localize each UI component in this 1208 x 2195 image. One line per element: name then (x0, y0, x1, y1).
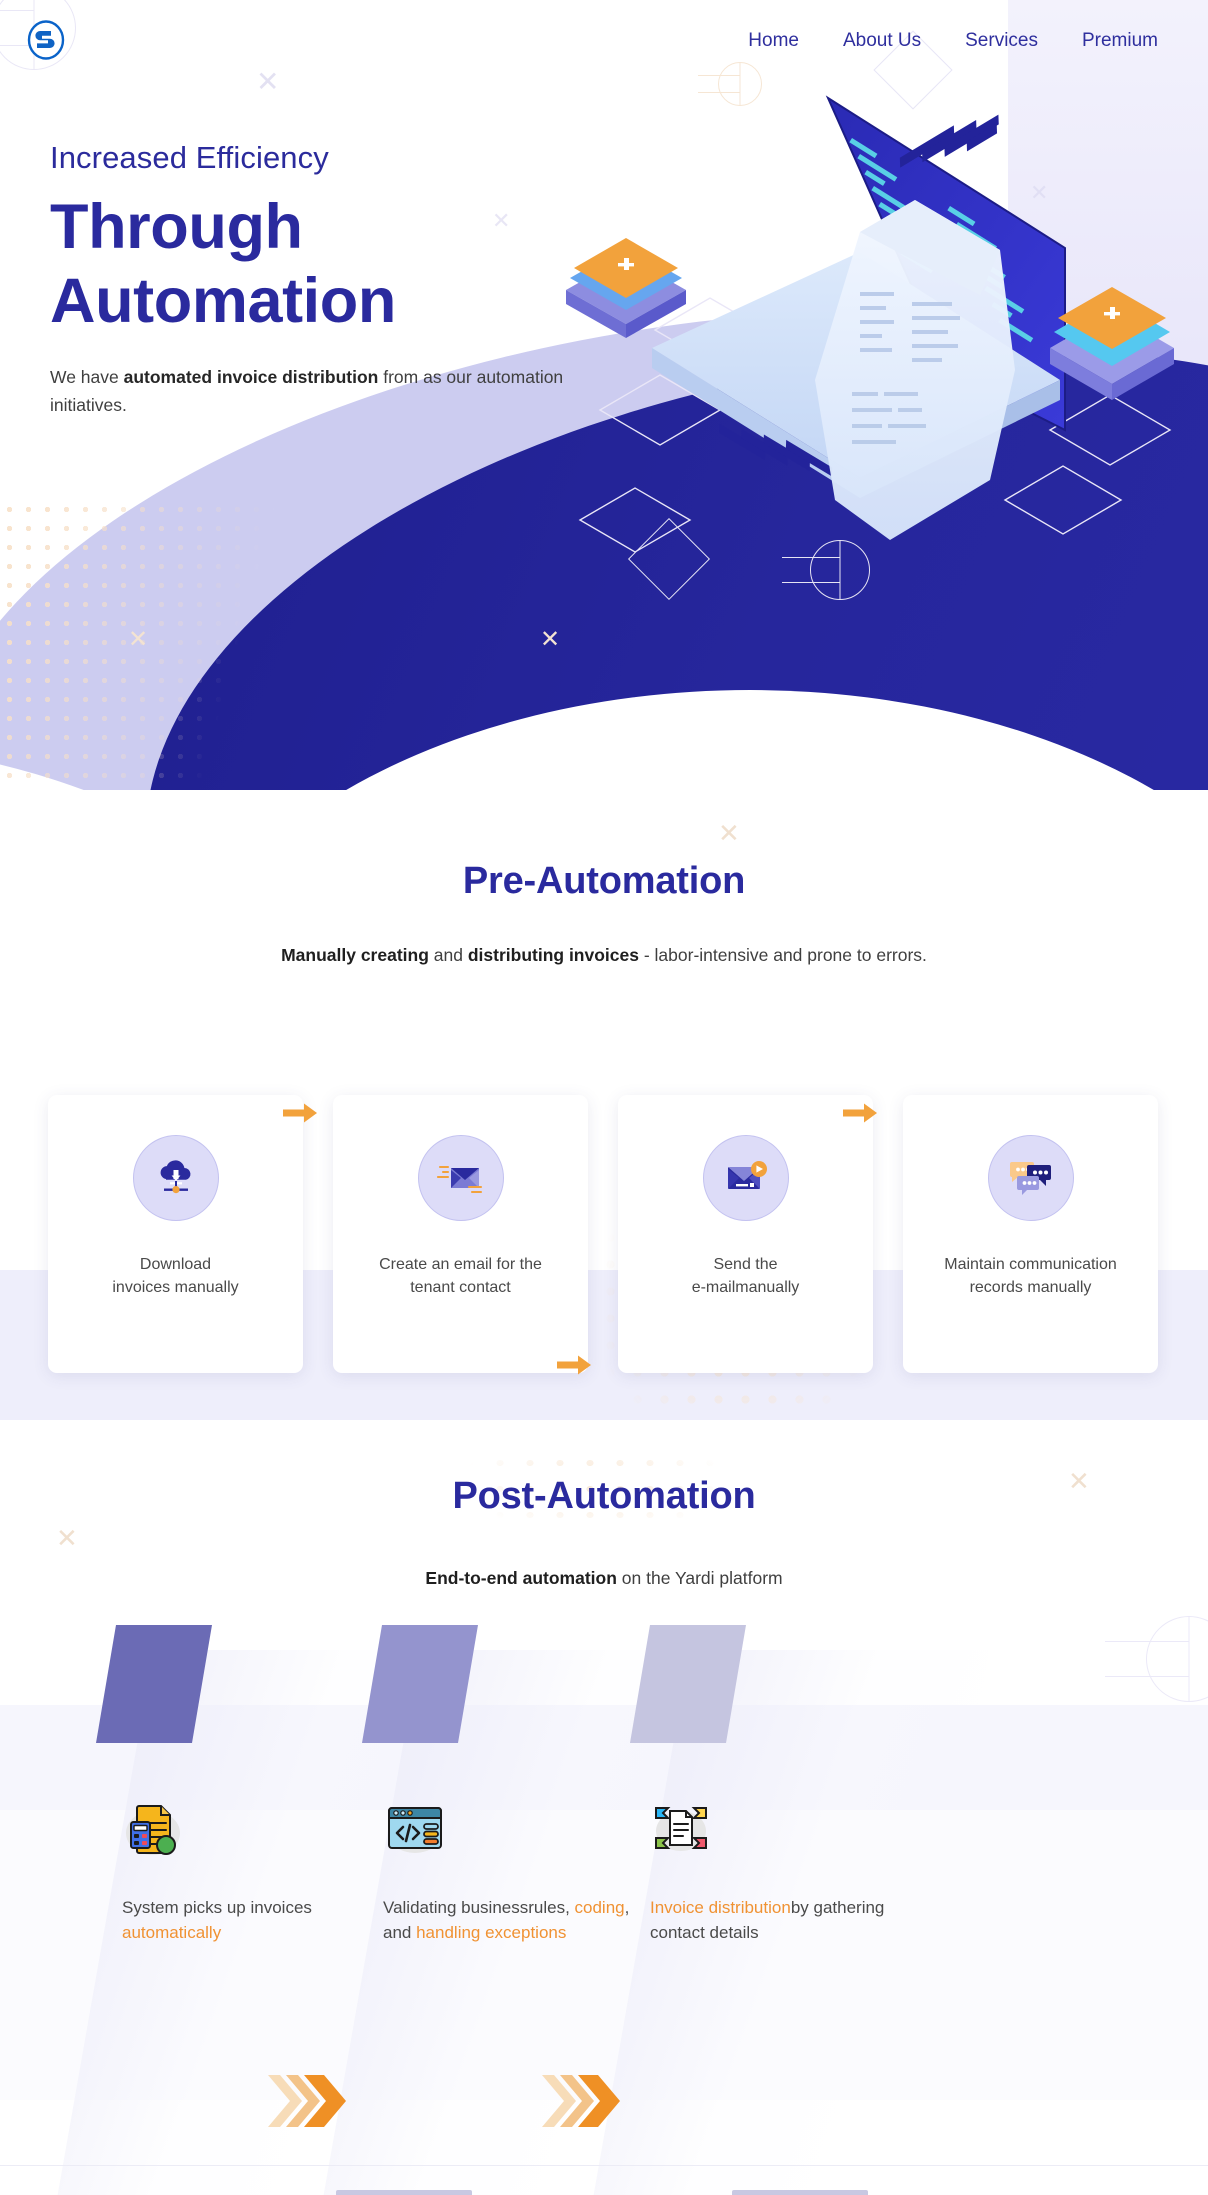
step-parallelogram (360, 1625, 480, 1743)
pre-automation-section: ✕ Pre-Automation Manually creating and d… (0, 790, 1208, 1420)
post-automation-title: Post-Automation (0, 1475, 1208, 1518)
nav-link-home[interactable]: Home (748, 30, 799, 52)
chat-records-icon (988, 1135, 1074, 1221)
document-distribute-icon (650, 1800, 710, 1860)
pre-automation-card-list: Download invoices manually (48, 1095, 1160, 1373)
step-parallelogram (94, 1625, 214, 1743)
logo[interactable] (26, 20, 66, 60)
landing-page: ✕ ✕ ✕ ✕ ✕ ✕ Home About Us Services Premi… (0, 0, 1208, 2195)
pre-automation-card-text: Create an email for the tenant contact (365, 1254, 556, 1299)
pre-subtext-bold-1: Manually creating (281, 945, 429, 965)
nav-link-services[interactable]: Services (965, 30, 1038, 52)
hero-title-line-1: Through (50, 192, 303, 262)
next-section-divider (0, 2165, 1208, 2166)
chevron-right-icon (542, 2075, 620, 2127)
post-automation-step-text: Validating businessrules, coding, and ha… (383, 1896, 653, 1946)
main-navigation[interactable]: Home About Us Services Premium (748, 30, 1158, 52)
step-text-highlight: Invoice distribution (650, 1898, 791, 1917)
arrow-right-icon (283, 1103, 317, 1128)
card-text-line-2: invoices manually (112, 1279, 238, 1296)
card-text-line-2: e-mailmanually (692, 1279, 800, 1296)
post-automation-step[interactable]: Invoice distributionby gathering contact… (650, 1800, 920, 1946)
pre-automation-title: Pre-Automation (0, 860, 1208, 903)
card-text-line-2: records manually (970, 1279, 1092, 1296)
pre-subtext-mid: and (429, 945, 468, 965)
step-text-part: System picks up invoices (122, 1898, 312, 1917)
code-window-icon (383, 1800, 443, 1860)
hero-title-line-2: Automation (50, 266, 396, 336)
card-text-line-1: Download (140, 1256, 211, 1273)
pre-automation-card-text: Maintain communication records manually (930, 1254, 1131, 1299)
post-subtext-bold: End-to-end automation (425, 1568, 617, 1588)
hero-subtext-prefix: We have (50, 367, 124, 387)
nav-link-about-us[interactable]: About Us (843, 30, 921, 52)
hero-subtext: We have automated invoice distribution f… (50, 363, 595, 420)
halftone-dots-decoration (0, 500, 300, 790)
x-mark-decoration: ✕ (718, 820, 740, 846)
arrow-right-icon (843, 1103, 877, 1128)
step-text-highlight: handling exceptions (416, 1923, 566, 1942)
card-text-line-2: tenant contact (410, 1279, 511, 1296)
pre-automation-card-text: Send the e-mailmanually (678, 1254, 814, 1299)
step-text-highlight: automatically (122, 1923, 221, 1942)
hero-illustration (560, 80, 1208, 560)
arrow-right-icon (557, 1355, 591, 1380)
pre-automation-subtext: Manually creating and distributing invoi… (0, 945, 1208, 966)
hero-content: Increased Efficiency Through Automation … (50, 140, 650, 419)
pre-automation-card[interactable]: Create an email for the tenant contact (333, 1095, 588, 1373)
nav-link-premium[interactable]: Premium (1082, 30, 1158, 52)
hero-title: Through Automation (50, 190, 650, 339)
hero-subtext-emphasis: automated invoice distribution (124, 367, 379, 387)
pre-subtext-tail: - labor-intensive and prone to errors. (639, 945, 927, 965)
post-automation-step[interactable]: Validating businessrules, coding, and ha… (383, 1800, 653, 1946)
globe-outline-icon (1146, 1616, 1208, 1702)
pre-automation-card[interactable]: Maintain communication records manually (903, 1095, 1158, 1373)
post-automation-section: ✕ ✕ Post-Automation End-to-end automatio… (0, 1420, 1208, 2195)
hero-section: ✕ ✕ ✕ ✕ ✕ ✕ Home About Us Services Premi… (0, 0, 1208, 790)
pre-automation-card[interactable]: Send the e-mailmanually (618, 1095, 873, 1373)
email-compose-icon (418, 1135, 504, 1221)
step-text-highlight: coding (575, 1898, 625, 1917)
x-mark-decoration: ✕ (56, 1525, 78, 1551)
next-section-placeholder-block (336, 2190, 472, 2195)
post-automation-subtext: End-to-end automation on the Yardi platf… (0, 1568, 1208, 1589)
post-automation-step-text: System picks up invoices automatically (122, 1896, 392, 1946)
orange-cube-right (1050, 287, 1174, 400)
card-text-line-1: Create an email for the (379, 1256, 542, 1273)
post-subtext-tail: on the Yardi platform (617, 1568, 783, 1588)
email-send-icon (703, 1135, 789, 1221)
pre-subtext-bold-2: distributing invoices (468, 945, 639, 965)
step-text-part: Validating businessrules, (383, 1898, 575, 1917)
invoice-calculator-icon (122, 1800, 182, 1860)
step-parallelogram (628, 1625, 748, 1743)
pre-automation-card-text: Download invoices manually (98, 1254, 252, 1299)
card-text-line-1: Maintain communication (944, 1256, 1117, 1273)
cloud-download-icon (133, 1135, 219, 1221)
card-text-line-1: Send the (713, 1256, 777, 1273)
post-automation-step[interactable]: System picks up invoices automatically (122, 1800, 392, 1946)
post-automation-step-text: Invoice distributionby gathering contact… (650, 1896, 920, 1946)
pre-automation-card[interactable]: Download invoices manually (48, 1095, 303, 1373)
next-section-placeholder-block (732, 2190, 868, 2195)
chevron-right-icon (268, 2075, 346, 2127)
hero-eyebrow: Increased Efficiency (50, 140, 650, 176)
